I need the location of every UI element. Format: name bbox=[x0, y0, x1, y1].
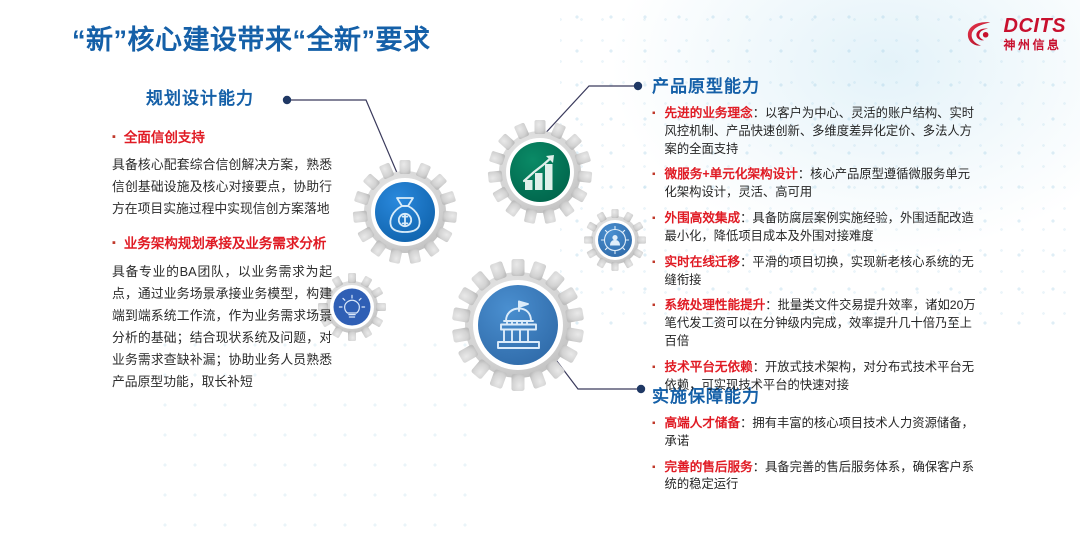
list-item: ▪ 全面信创支持 bbox=[112, 128, 332, 148]
item-text: 系统处理性能提升：批量类文件交易提升效率，诸如20万笔代发工资可以在分钟级内完成… bbox=[665, 296, 982, 350]
page-title: “新”核心建设带来“全新”要求 bbox=[72, 18, 431, 57]
item-title: 全面信创支持 bbox=[124, 128, 205, 148]
item-title: 系统处理性能提升 bbox=[665, 298, 766, 312]
item-text: 完善的售后服务：具备完善的售后服务体系，确保客户系统的稳定运行 bbox=[665, 458, 982, 495]
bullet-dot-icon: ▪ bbox=[652, 414, 656, 431]
connector-dot-prototype bbox=[634, 82, 642, 90]
list-item: ▪ 外围高效集成：具备防腐层案例实施经验，外围适配改造最小化，降低项目成本及外围… bbox=[652, 209, 982, 246]
slide-canvas: “新”核心建设带来“全新”要求 DCITS 神州信息 bbox=[0, 0, 1080, 540]
item-text: 实时在线迁移：平滑的项目切换，实现新老核心系统的无缝衔接 bbox=[665, 253, 982, 290]
implementation-capability-block: ▪ 高端人才储备：拥有丰富的核心项目技术人力资源储备，承诺 ▪ 完善的售后服务：… bbox=[652, 414, 982, 501]
gear-money-bag bbox=[353, 160, 458, 264]
item-body: 具备核心配套综合信创解决方案，熟悉信创基础设施及核心对接要点，协助行方在项目实施… bbox=[112, 154, 332, 220]
item-title: 业务架构规划承接及业务需求分析 bbox=[124, 234, 327, 254]
item-text: 高端人才储备：拥有丰富的核心项目技术人力资源储备，承诺 bbox=[665, 414, 982, 451]
dcits-swirl-icon bbox=[964, 17, 998, 51]
gear-government-building bbox=[452, 259, 584, 391]
item-body: 具备专业的BA团队，以业务需求为起点，通过业务场景承接业务模型，构建端到端系统工… bbox=[112, 261, 332, 393]
item-text: 先进的业务理念：以客户为中心、灵活的账户结构、实时风控机制、产品快速创新、多维度… bbox=[665, 104, 982, 158]
connector-dot-planning bbox=[283, 96, 291, 104]
item-title: 实时在线迁移 bbox=[665, 255, 741, 269]
bullet-dot-icon: ▪ bbox=[652, 253, 656, 270]
planning-capability-block: ▪ 全面信创支持 具备核心配套综合信创解决方案，熟悉信创基础设施及核心对接要点，… bbox=[112, 128, 332, 407]
gear-growth-chart bbox=[488, 120, 593, 224]
logo-cn-text: 神州信息 bbox=[1004, 39, 1067, 51]
item-title: 完善的售后服务 bbox=[665, 460, 753, 474]
item-title: 微服务+单元化架构设计 bbox=[665, 167, 798, 181]
list-item: ▪ 技术平台无依赖：开放式技术架构，对分布式技术平台无依赖，可实现技术平台的快速… bbox=[652, 358, 982, 395]
logo-wordmark: DCITS 神州信息 bbox=[1004, 16, 1067, 51]
brand-logo: DCITS 神州信息 bbox=[964, 16, 1067, 51]
item-title: 先进的业务理念 bbox=[665, 106, 753, 120]
item-title: 技术平台无依赖 bbox=[665, 360, 753, 374]
item-text: 微服务+单元化架构设计：核心产品原型遵循微服务单元化架构设计，灵活、高可用 bbox=[665, 165, 982, 202]
list-item: ▪ 高端人才储备：拥有丰富的核心项目技术人力资源储备，承诺 bbox=[652, 414, 982, 451]
bullet-dot-icon: ▪ bbox=[652, 358, 656, 375]
gear-cluster-graphic bbox=[300, 110, 660, 440]
list-item: ▪ 实时在线迁移：平滑的项目切换，实现新老核心系统的无缝衔接 bbox=[652, 253, 982, 290]
item-title: 外围高效集成 bbox=[665, 211, 741, 225]
bullet-dot-icon: ▪ bbox=[652, 296, 656, 313]
heading-prototype-capability: 产品原型能力 bbox=[652, 72, 760, 97]
item-text: 外围高效集成：具备防腐层案例实施经验，外围适配改造最小化，降低项目成本及外围对接… bbox=[665, 209, 982, 246]
bullet-dot-icon: ▪ bbox=[652, 458, 656, 475]
heading-planning-capability: 规划设计能力 bbox=[146, 84, 254, 109]
gear-badge-person bbox=[584, 209, 646, 271]
bullet-dot-icon: ▪ bbox=[652, 104, 656, 121]
list-item: ▪ 系统处理性能提升：批量类文件交易提升效率，诸如20万笔代发工资可以在分钟级内… bbox=[652, 296, 982, 350]
list-item: ▪ 业务架构规划承接及业务需求分析 bbox=[112, 234, 332, 254]
bullet-dot-icon: ▪ bbox=[112, 234, 116, 251]
list-item: ▪ 完善的售后服务：具备完善的售后服务体系，确保客户系统的稳定运行 bbox=[652, 458, 982, 495]
bullet-dot-icon: ▪ bbox=[112, 128, 116, 145]
item-text: 技术平台无依赖：开放式技术架构，对分布式技术平台无依赖，可实现技术平台的快速对接 bbox=[665, 358, 982, 395]
logo-en-text: DCITS bbox=[1004, 16, 1067, 36]
item-title: 高端人才储备 bbox=[665, 416, 741, 430]
bullet-dot-icon: ▪ bbox=[652, 165, 656, 182]
prototype-capability-block: ▪ 先进的业务理念：以客户为中心、灵活的账户结构、实时风控机制、产品快速创新、多… bbox=[652, 104, 982, 402]
list-item: ▪ 先进的业务理念：以客户为中心、灵活的账户结构、实时风控机制、产品快速创新、多… bbox=[652, 104, 982, 158]
bullet-dot-icon: ▪ bbox=[652, 209, 656, 226]
list-item: ▪ 微服务+单元化架构设计：核心产品原型遵循微服务单元化架构设计，灵活、高可用 bbox=[652, 165, 982, 202]
